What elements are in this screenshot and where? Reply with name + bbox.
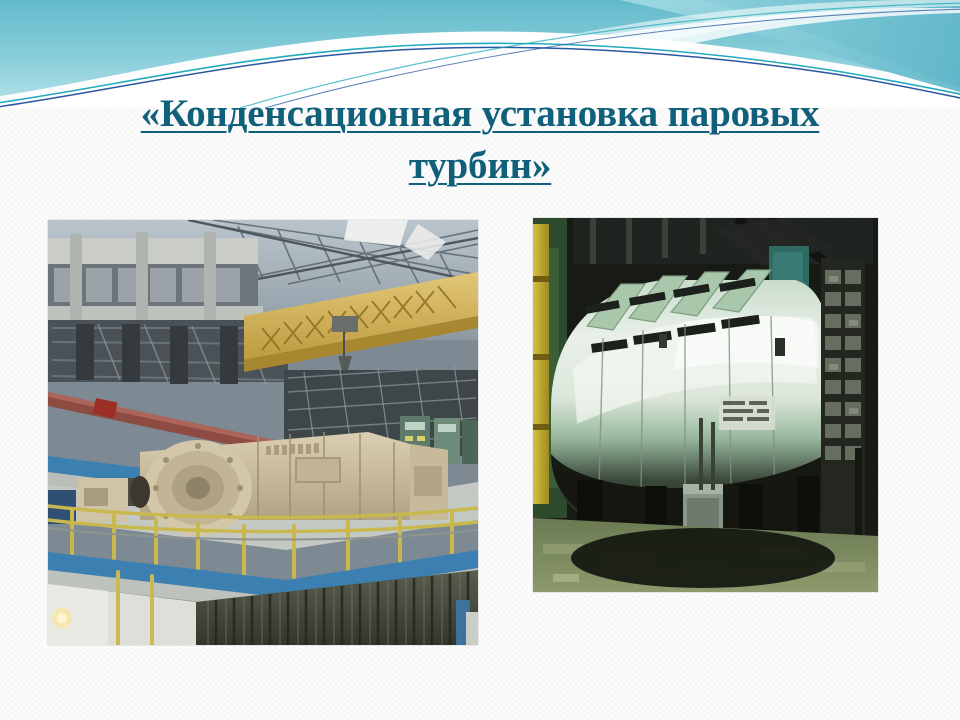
turbine-hall-photo <box>48 220 478 645</box>
presentation-slide: «Конденсационная установка паровых турби… <box>0 0 960 720</box>
slide-title: «Конденсационная установка паровых турби… <box>30 88 930 192</box>
slide-title-line-2: турбин» <box>409 140 551 192</box>
slide-title-line-1: «Конденсационная установка паровых <box>141 88 820 140</box>
condenser-vessel-photo <box>533 218 878 592</box>
